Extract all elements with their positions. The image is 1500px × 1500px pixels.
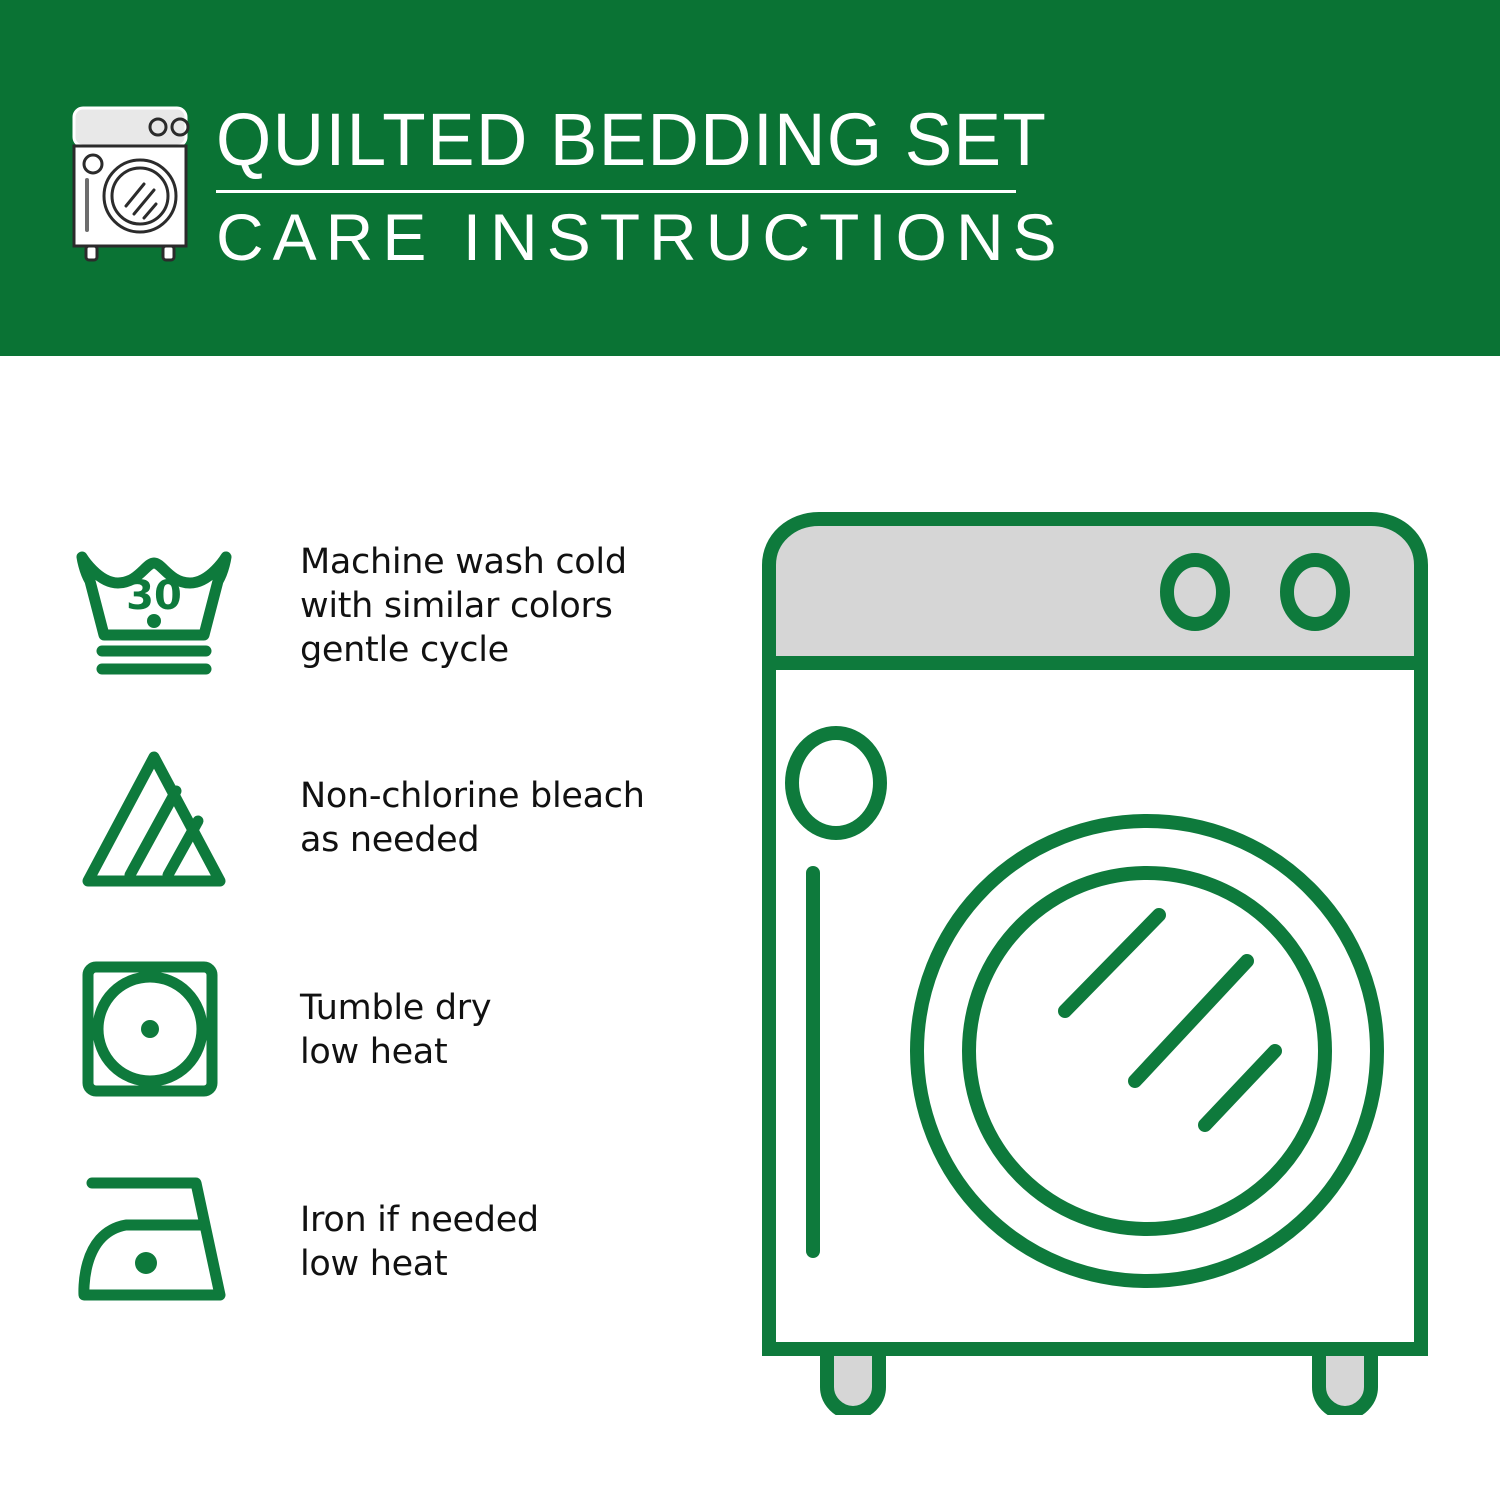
care-text-line: low heat [300, 1242, 539, 1286]
care-row: Tumble dry low heat [70, 924, 710, 1136]
care-text-line: low heat [300, 1030, 491, 1074]
tumble-dry-low-heat-icon [70, 955, 238, 1105]
care-row: 30 Machine wash cold with similar colors… [70, 500, 710, 712]
machine-leg [1319, 1349, 1371, 1413]
header-content: QUILTED BEDDING SET CARE INSTRUCTIONS [60, 98, 1082, 273]
care-text-line: with similar colors [300, 584, 627, 628]
washing-machine-icon [60, 98, 200, 268]
page-title: QUILTED BEDDING SET [216, 100, 1047, 180]
page-subtitle: CARE INSTRUCTIONS [216, 201, 1082, 273]
care-text-line: Iron if needed [300, 1198, 539, 1242]
machine-leg [827, 1349, 879, 1413]
header-title-group: QUILTED BEDDING SET CARE INSTRUCTIONS [216, 98, 1082, 273]
non-chlorine-bleach-triangle-icon [70, 743, 238, 893]
care-text-block: Iron if needed low heat [300, 1198, 539, 1286]
care-row: Iron if needed low heat [70, 1136, 710, 1348]
care-text-line: Machine wash cold [300, 540, 627, 584]
wash-temperature-value: 30 [126, 573, 182, 619]
care-text-line: Non-chlorine bleach [300, 774, 645, 818]
header-banner: QUILTED BEDDING SET CARE INSTRUCTIONS [0, 0, 1500, 356]
front-load-washing-machine-illustration [735, 495, 1455, 1415]
care-row: Non-chlorine bleach as needed [70, 712, 710, 924]
care-text-block: Tumble dry low heat [300, 986, 491, 1074]
care-text-block: Machine wash cold with similar colors ge… [300, 540, 627, 672]
control-panel [769, 519, 1421, 663]
care-text-line: Tumble dry [300, 986, 491, 1030]
care-text-block: Non-chlorine bleach as needed [300, 774, 645, 862]
iron-low-heat-icon [70, 1167, 238, 1317]
title-divider [216, 190, 1016, 193]
care-text-line: as needed [300, 818, 645, 862]
care-instruction-list: 30 Machine wash cold with similar colors… [70, 500, 710, 1348]
wash-tub-30-gentle-icon: 30 [70, 531, 238, 681]
care-text-line: gentle cycle [300, 628, 627, 672]
